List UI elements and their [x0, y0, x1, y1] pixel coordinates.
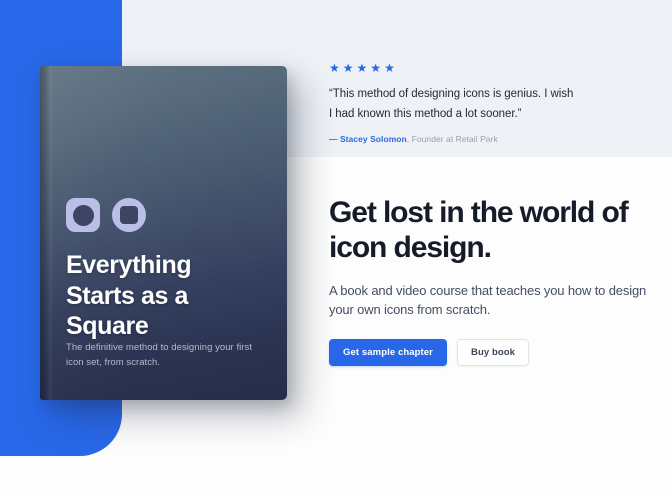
rounded-square-with-circle-icon — [66, 198, 100, 232]
star-icon: ★ — [329, 62, 340, 74]
book-title: Everything Starts as a Square — [66, 250, 266, 342]
testimonial-byline: — Stacey Solomon, Founder at Retail Park — [329, 134, 579, 146]
testimonial: ★ ★ ★ ★ ★ “This method of designing icon… — [329, 62, 579, 146]
star-rating: ★ ★ ★ ★ ★ — [329, 62, 579, 74]
circle-cutout — [73, 205, 94, 226]
circle-with-rounded-square-icon — [112, 198, 146, 232]
book-cover-icons — [66, 198, 146, 232]
cta-row: Get sample chapter Buy book — [329, 339, 649, 366]
buy-book-button[interactable]: Buy book — [457, 339, 529, 366]
landing-page: Everything Starts as a Square The defini… — [0, 0, 672, 494]
book-cover-content: Everything Starts as a Square The defini… — [40, 66, 287, 400]
star-icon: ★ — [357, 62, 368, 74]
get-sample-chapter-button[interactable]: Get sample chapter — [329, 339, 447, 366]
hero: Get lost in the world of icon design. A … — [329, 196, 649, 366]
star-icon: ★ — [370, 62, 381, 74]
testimonial-author: — Stacey Solomon — [329, 134, 407, 144]
star-icon: ★ — [343, 62, 354, 74]
testimonial-quote: “This method of designing icons is geniu… — [329, 84, 579, 125]
book-subtitle: The definitive method to designing your … — [66, 340, 266, 371]
page-title: Get lost in the world of icon design. — [329, 196, 649, 266]
star-icon: ★ — [384, 62, 395, 74]
testimonial-author-role: , Founder at Retail Park — [407, 134, 498, 144]
square-cutout — [120, 206, 138, 224]
hero-subtitle: A book and video course that teaches you… — [329, 281, 649, 321]
book-cover: Everything Starts as a Square The defini… — [40, 66, 287, 400]
